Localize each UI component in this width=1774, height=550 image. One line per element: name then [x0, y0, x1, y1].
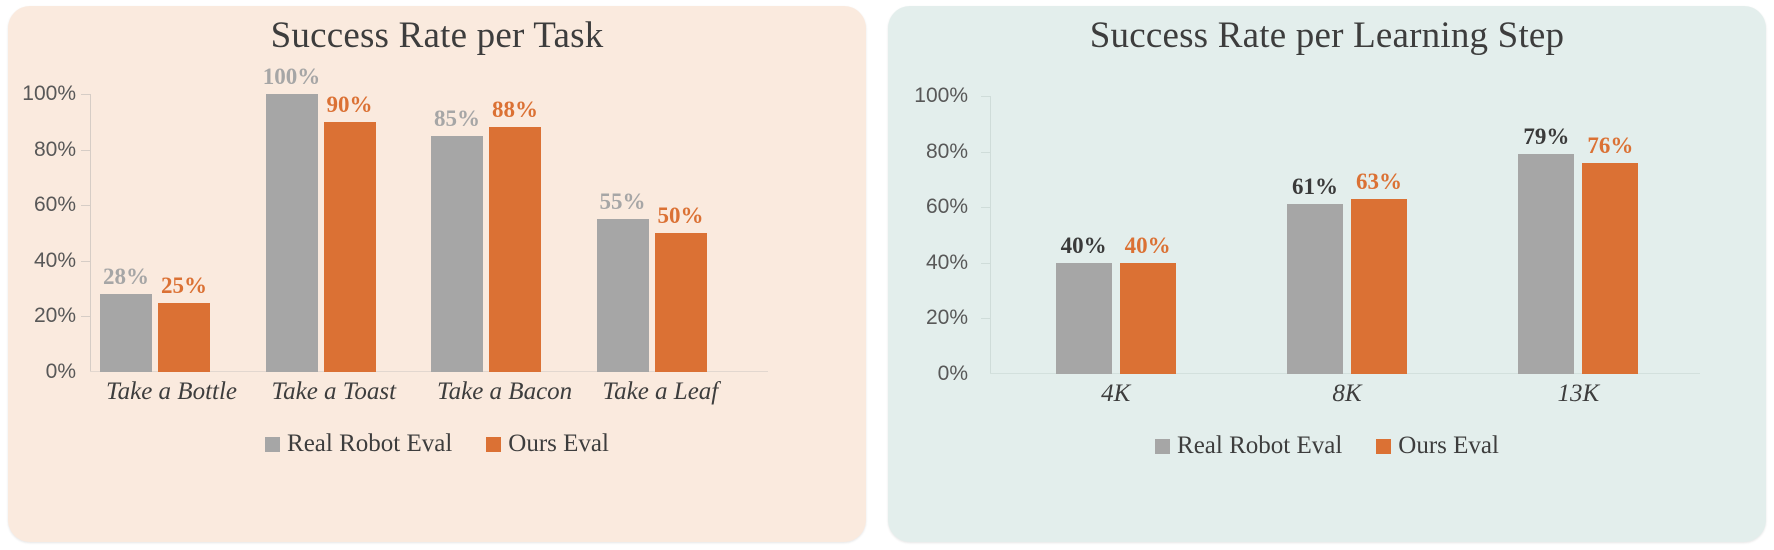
legend-swatch-icon — [486, 437, 501, 452]
bar-groups-right: 40%40%61%63%79%76% — [1000, 96, 1694, 374]
bar-pair: 55%50% — [597, 94, 763, 372]
category-labels-left: Take a BottleTake a ToastTake a BaconTak… — [100, 378, 762, 406]
y-tick-label: 80% — [34, 138, 76, 162]
chart-panel-success-rate-per-task: Success Rate per Task 100%80%60%40%20%0%… — [8, 6, 866, 542]
bar-ours-eval[interactable] — [489, 127, 541, 372]
y-tick-mark — [981, 318, 991, 319]
bar-real-robot-eval[interactable] — [1056, 263, 1112, 374]
bar-column[interactable]: 88% — [489, 94, 541, 372]
bar-value-label: 100% — [263, 64, 321, 90]
bar-pair: 61%63% — [1231, 96, 1462, 374]
y-tick-label: 100% — [22, 82, 76, 106]
plot-area-right: 100%80%60%40%20%0% 40%40%61%63%79%76% — [1000, 96, 1694, 374]
category-labels-right: 4K8K13K — [1000, 380, 1694, 408]
bar-pair: 28%25% — [100, 94, 266, 372]
chart-title-left: Success Rate per Task — [8, 14, 866, 57]
bar-group: 40%40% — [1000, 96, 1231, 374]
bar-column[interactable]: 50% — [655, 94, 707, 372]
bar-column[interactable]: 55% — [597, 94, 649, 372]
legend-label: Ours Eval — [1398, 432, 1499, 460]
bar-ours-eval[interactable] — [1120, 263, 1176, 374]
legend-item[interactable]: Real Robot Eval — [1155, 432, 1342, 460]
category-label: 13K — [1463, 380, 1694, 408]
bar-group: 79%76% — [1463, 96, 1694, 374]
y-tick-label: 20% — [926, 306, 968, 330]
y-tick-mark — [981, 96, 991, 97]
y-tick-label: 20% — [34, 304, 76, 328]
bar-column[interactable]: 61% — [1287, 96, 1343, 374]
bar-value-label: 40% — [1061, 233, 1107, 259]
charts-board: Success Rate per Task 100%80%60%40%20%0%… — [0, 0, 1774, 550]
bar-groups-left: 28%25%100%90%85%88%55%50% — [100, 94, 762, 372]
y-tick-mark — [81, 205, 91, 206]
bar-ours-eval[interactable] — [655, 233, 707, 372]
y-tick-mark — [981, 263, 991, 264]
bar-column[interactable]: 90% — [324, 94, 376, 372]
bar-column[interactable]: 28% — [100, 94, 152, 372]
bar-value-label: 25% — [161, 273, 207, 299]
y-tick-mark — [81, 150, 91, 151]
bar-column[interactable]: 79% — [1518, 96, 1574, 374]
y-axis-labels-left: 100%80%60%40%20%0% — [14, 94, 84, 372]
y-tick-mark — [81, 316, 91, 317]
bar-value-label: 90% — [327, 92, 373, 118]
bar-ours-eval[interactable] — [1582, 163, 1638, 374]
bar-real-robot-eval[interactable] — [431, 136, 483, 372]
y-tick-mark — [81, 261, 91, 262]
legend-item[interactable]: Ours Eval — [1376, 432, 1499, 460]
bar-value-label: 61% — [1292, 174, 1338, 200]
bar-group: 85%88% — [431, 94, 597, 372]
category-label: Take a Leaf — [597, 378, 763, 406]
y-tick-mark — [981, 152, 991, 153]
bar-column[interactable]: 40% — [1056, 96, 1112, 374]
bar-pair: 85%88% — [431, 94, 597, 372]
y-tick-label: 40% — [34, 249, 76, 273]
bar-column[interactable]: 85% — [431, 94, 483, 372]
bar-ours-eval[interactable] — [324, 122, 376, 372]
plot-area-left: 100%80%60%40%20%0% 28%25%100%90%85%88%55… — [100, 94, 762, 372]
legend-label: Real Robot Eval — [287, 430, 452, 458]
y-tick-label: 60% — [34, 193, 76, 217]
legend-label: Ours Eval — [508, 430, 609, 458]
bar-real-robot-eval[interactable] — [266, 94, 318, 372]
bar-pair: 40%40% — [1000, 96, 1231, 374]
legend-item[interactable]: Real Robot Eval — [265, 430, 452, 458]
y-tick-label: 0% — [46, 360, 76, 384]
bar-column[interactable]: 40% — [1120, 96, 1176, 374]
bar-group: 100%90% — [266, 94, 432, 372]
legend-left: Real Robot EvalOurs Eval — [8, 430, 866, 458]
bar-value-label: 85% — [434, 106, 480, 132]
bar-column[interactable]: 100% — [266, 94, 318, 372]
bar-column[interactable]: 63% — [1351, 96, 1407, 374]
category-label: Take a Toast — [266, 378, 432, 406]
legend-swatch-icon — [1376, 439, 1391, 454]
bar-value-label: 63% — [1356, 169, 1402, 195]
bar-value-label: 28% — [103, 264, 149, 290]
chart-title-right: Success Rate per Learning Step — [888, 14, 1766, 57]
bar-value-label: 50% — [658, 203, 704, 229]
bar-real-robot-eval[interactable] — [1518, 154, 1574, 374]
bar-value-label: 55% — [600, 189, 646, 215]
bar-real-robot-eval[interactable] — [597, 219, 649, 372]
y-axis-line-right — [990, 96, 991, 374]
bar-column[interactable]: 25% — [158, 94, 210, 372]
y-tick-mark — [981, 207, 991, 208]
bar-ours-eval[interactable] — [1351, 199, 1407, 374]
category-label: 8K — [1231, 380, 1462, 408]
bar-real-robot-eval[interactable] — [1287, 204, 1343, 374]
bar-value-label: 76% — [1587, 133, 1633, 159]
bar-value-label: 88% — [492, 97, 538, 123]
legend-swatch-icon — [265, 437, 280, 452]
bar-group: 28%25% — [100, 94, 266, 372]
legend-item[interactable]: Ours Eval — [486, 430, 609, 458]
bar-ours-eval[interactable] — [158, 303, 210, 373]
bar-group: 61%63% — [1231, 96, 1462, 374]
legend-swatch-icon — [1155, 439, 1170, 454]
bar-group: 55%50% — [597, 94, 763, 372]
category-label: Take a Bacon — [431, 378, 597, 406]
y-axis-line-left — [90, 94, 91, 372]
y-tick-label: 80% — [926, 140, 968, 164]
y-tick-label: 100% — [914, 84, 968, 108]
legend-right: Real Robot EvalOurs Eval — [888, 432, 1766, 460]
bar-value-label: 79% — [1523, 124, 1569, 150]
legend-label: Real Robot Eval — [1177, 432, 1342, 460]
y-axis-labels-right: 100%80%60%40%20%0% — [906, 96, 976, 374]
bar-real-robot-eval[interactable] — [100, 294, 152, 372]
category-label: 4K — [1000, 380, 1231, 408]
category-label: Take a Bottle — [100, 378, 266, 406]
bar-pair: 100%90% — [266, 94, 432, 372]
bar-value-label: 40% — [1125, 233, 1171, 259]
chart-panel-success-rate-per-learning-step: Success Rate per Learning Step 100%80%60… — [888, 6, 1766, 542]
bar-pair: 79%76% — [1463, 96, 1694, 374]
y-tick-label: 60% — [926, 195, 968, 219]
y-tick-label: 0% — [938, 362, 968, 386]
y-tick-label: 40% — [926, 251, 968, 275]
bar-column[interactable]: 76% — [1582, 96, 1638, 374]
y-tick-mark — [81, 94, 91, 95]
